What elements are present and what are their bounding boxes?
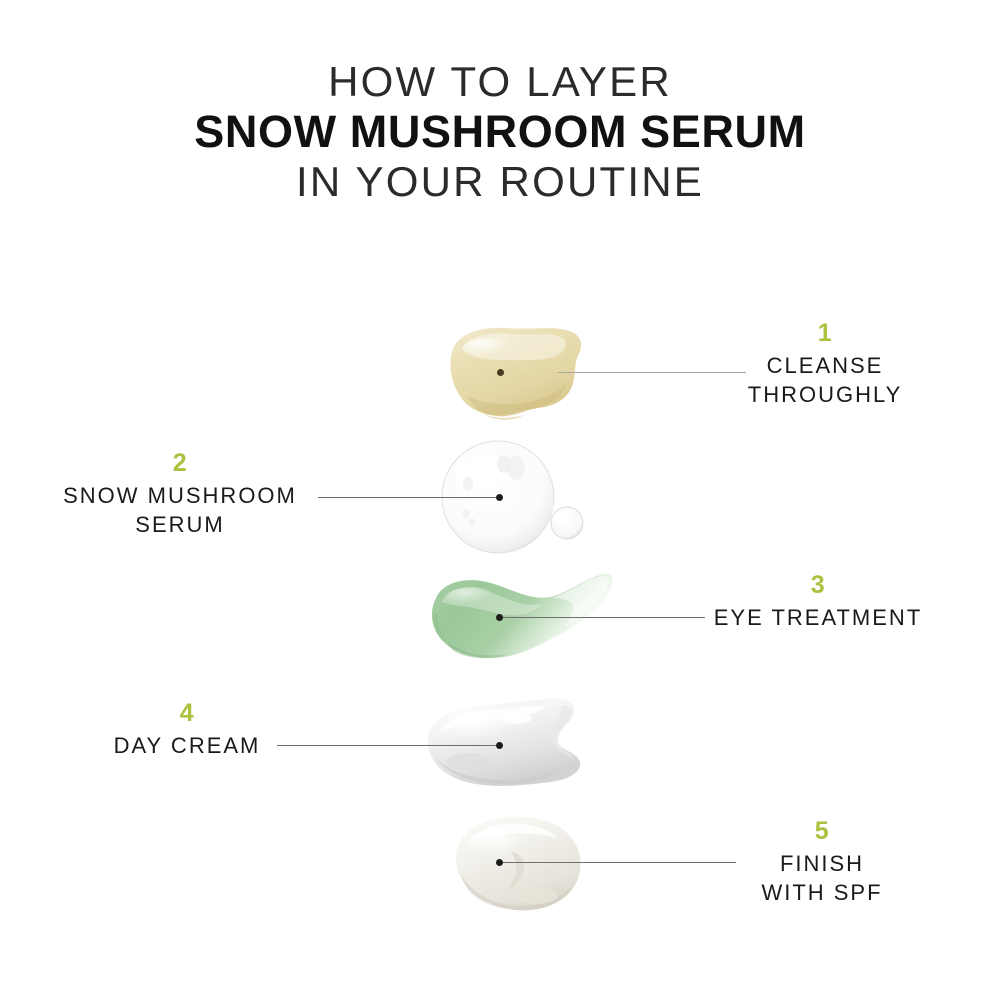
- cleanser-beige-swatch: [432, 318, 612, 430]
- step-text-4: DAY CREAM: [62, 731, 312, 760]
- step-number-4: 4: [62, 700, 312, 726]
- step-text-5: FINISH WITH SPF: [697, 849, 947, 907]
- step-number-3: 3: [693, 572, 943, 598]
- day-cream-white-swatch: [412, 688, 612, 800]
- leader-dot-step-4: [496, 742, 503, 749]
- page-title: HOW TO LAYER SNOW MUSHROOM SERUM IN YOUR…: [0, 58, 1000, 205]
- spf-ivory-swatch: [436, 808, 608, 920]
- step-text-3: EYE TREATMENT: [693, 603, 943, 632]
- title-line-product-name: SNOW MUSHROOM SERUM: [0, 105, 1000, 158]
- step-number-5: 5: [697, 818, 947, 844]
- infographic-page: HOW TO LAYER SNOW MUSHROOM SERUM IN YOUR…: [0, 0, 1000, 1000]
- title-line-in-your-routine: IN YOUR ROUTINE: [0, 158, 1000, 205]
- step-label-3: 3 EYE TREATMENT: [693, 572, 943, 632]
- leader-dot-step-2: [496, 494, 503, 501]
- leader-line-step-2: [318, 497, 499, 498]
- step-number-2: 2: [55, 450, 305, 476]
- leader-dot-step-5: [496, 859, 503, 866]
- leader-dot-step-1: [497, 369, 504, 376]
- step-label-4: 4 DAY CREAM: [62, 700, 312, 760]
- step-number-1: 1: [700, 320, 950, 346]
- step-label-5: 5 FINISH WITH SPF: [697, 818, 947, 907]
- eye-treatment-green-swatch: [412, 562, 624, 674]
- step-label-2: 2 SNOW MUSHROOM SERUM: [55, 450, 305, 539]
- step-text-1: CLEANSE THROUGHLY: [700, 351, 950, 409]
- leader-line-step-3: [500, 617, 705, 618]
- leader-dot-step-3: [496, 614, 503, 621]
- title-line-how-to-layer: HOW TO LAYER: [0, 58, 1000, 105]
- step-text-2: SNOW MUSHROOM SERUM: [55, 481, 305, 539]
- step-label-1: 1 CLEANSE THROUGHLY: [700, 320, 950, 409]
